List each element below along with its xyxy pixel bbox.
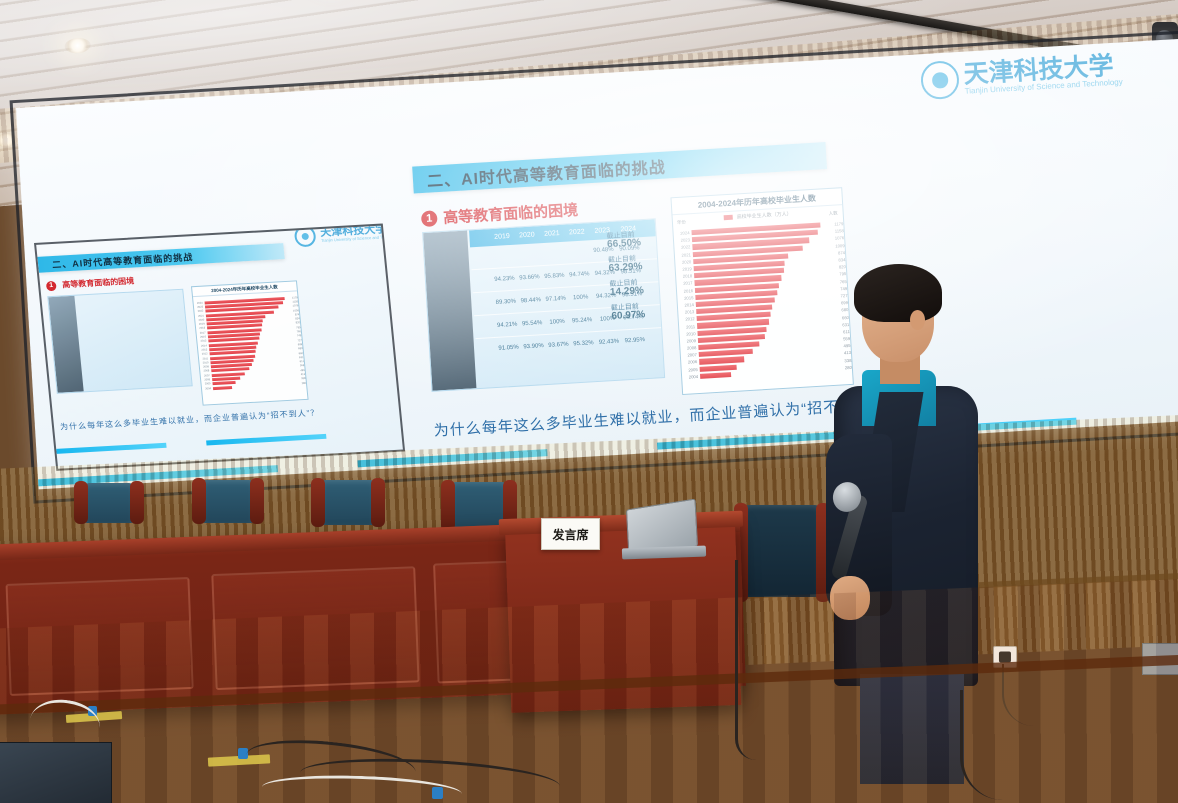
chart-bar-year-label: 2018	[196, 327, 205, 330]
speaker-hair	[854, 264, 942, 322]
slide-bottom-question: 为什么每年这么多毕业生难以就业，而企业普遍认为“招不到人”？	[60, 407, 320, 432]
chart-bar-value-label: 280	[296, 381, 306, 385]
chart-bar-year-label: 2022	[194, 310, 203, 313]
chart-bar-value-label: 660	[293, 352, 303, 356]
secondary-projection-screen[interactable]: 天津科技大学 Tianjin University of Science and…	[34, 224, 405, 471]
slide-section-title-band: 二、AI时代高等教育面临的挑战	[37, 243, 284, 273]
bullet-number-badge: 1	[46, 280, 57, 291]
slide-bullet: 1 高等教育面临的困境	[46, 275, 135, 291]
chart-bar-year-label: 2020	[195, 318, 204, 321]
chart-bar-value-label: 1076	[288, 305, 298, 309]
chart-title: 2004-2024年历年高校毕业生人数	[192, 281, 297, 297]
chart-bar-value-label: 795	[290, 326, 300, 330]
chart-bar-value-label: 699	[292, 343, 302, 347]
chart-bar	[213, 386, 232, 390]
chair-arm	[74, 481, 88, 524]
chart-bar-year-label: 2021	[195, 314, 204, 317]
chair-arm	[130, 481, 144, 524]
audience-chair[interactable]	[85, 483, 133, 523]
chart-bar-value-label: 765	[291, 330, 301, 334]
chair-arm	[311, 478, 325, 527]
chair-arm	[441, 480, 455, 531]
chart-bar-year-label: 2014	[198, 344, 207, 347]
audience-chair[interactable]	[322, 480, 374, 525]
university-seal-icon	[294, 225, 317, 247]
chart-bar-year-label: 2008	[200, 370, 209, 373]
chart-bar-year-label: 2010	[199, 361, 208, 364]
chart-bar-year-label: 2012	[199, 353, 208, 356]
chart-bar-value-label: 559	[294, 364, 304, 368]
chair-arm	[371, 478, 385, 527]
chart-bar-value-label: 413	[295, 373, 305, 377]
chart-bar-value-label: 495	[295, 369, 305, 373]
chart-bar-value-label: 749	[291, 334, 301, 338]
chart-bar-year-label: 2023	[194, 306, 203, 309]
chart-bar-year-label: 2006	[201, 378, 210, 381]
chart-rows: 2024117920231158202210762021100920208742…	[193, 295, 307, 402]
floor-speaker-box	[0, 742, 112, 803]
chart-bar-value-label: 680	[292, 347, 302, 351]
chart-bar-year-label: 2015	[197, 340, 206, 343]
audience-chair[interactable]	[745, 505, 819, 597]
screen-accent-bar	[206, 434, 326, 446]
chart-bar-year-label: 2007	[201, 374, 210, 377]
chart-bar-year-label: 2013	[198, 348, 207, 351]
chart-bar-value-label: 727	[292, 339, 302, 343]
chart-bar-value-label: 874	[289, 313, 299, 317]
chair-arm	[192, 478, 206, 524]
employment-rate-table-panel	[47, 289, 192, 394]
graduates-bar-chart-panel: 2004-2024年历年高校毕业生人数 20241179202311582022…	[191, 280, 309, 405]
chart-bar-value-label: 338	[295, 377, 305, 381]
lecture-hall-scene: 天津科技大学 Tianjin University of Science and…	[0, 0, 1178, 803]
chart-bar-year-label: 2004	[202, 387, 211, 390]
chart-bar-year-label: 2024	[193, 301, 202, 304]
podium-sign-label: 发言席	[552, 526, 588, 543]
floor-cable	[735, 560, 756, 760]
chart-bar-year-label: 2011	[199, 357, 208, 360]
chart-bar-value-label: 1009	[289, 309, 299, 313]
speaker-ear	[910, 310, 925, 330]
classroom-photo	[48, 296, 83, 393]
chair-back	[745, 505, 819, 597]
screen-accent-bar	[56, 443, 166, 454]
chart-bar-year-label: 2017	[196, 331, 205, 334]
chart-bar-year-label: 2005	[201, 383, 210, 386]
chart-bar-value-label: 1158	[288, 300, 298, 304]
chair-back	[203, 480, 253, 523]
chart-bar-value-label: 1179	[287, 296, 297, 300]
bullet-label: 高等教育面临的困境	[62, 275, 135, 290]
chair-back	[322, 480, 374, 525]
slide-section-title: 二、AI时代高等教育面临的挑战	[52, 250, 194, 271]
podium-name-card: 发言席	[541, 518, 600, 550]
chair-arm	[250, 478, 264, 524]
audience-chair[interactable]	[203, 480, 253, 523]
chair-back	[85, 483, 133, 523]
chart-bar-value-label: 631	[293, 356, 303, 360]
chart-bar-value-label: 820	[290, 322, 300, 326]
chart-bar-year-label: 2016	[197, 335, 206, 338]
